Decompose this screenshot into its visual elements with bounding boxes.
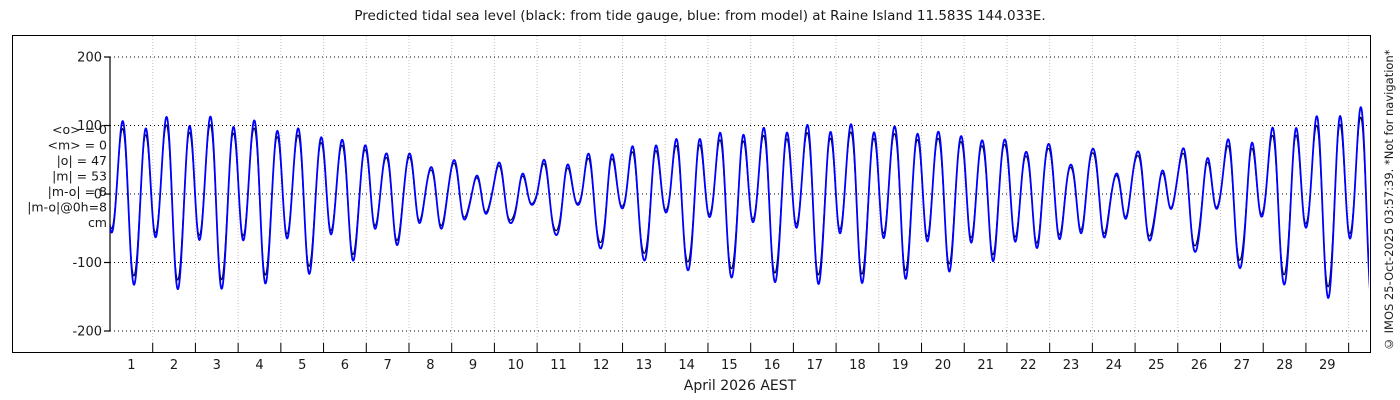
x-tick-label: 18: [849, 358, 866, 373]
data-series-group: [110, 107, 1370, 298]
series-observed: [110, 117, 1370, 287]
x-tick-label: 27: [1234, 358, 1251, 373]
statistics-line: |m| = 53: [52, 168, 107, 183]
copyright-notice: © IMOS 25-Oct-2025 03:57:39. *Not for na…: [1379, 0, 1399, 400]
x-tick-label: 4: [255, 358, 263, 373]
series-model: [110, 107, 1370, 298]
x-tick-label: 13: [636, 358, 653, 373]
statistics-line: |m-o| = 8: [48, 184, 107, 199]
tidal-plot: 2001000-100-2001234567891011121314151617…: [0, 0, 1400, 400]
statistics-line: <o> = 0: [52, 122, 107, 137]
x-tick-label: 23: [1063, 358, 1080, 373]
chart-root: Predicted tidal sea level (black: from t…: [0, 0, 1400, 400]
x-tick-label: 6: [341, 358, 349, 373]
x-axis-label: April 2026 AEST: [684, 378, 797, 394]
x-tick-label: 19: [892, 358, 909, 373]
x-tick-label: 15: [721, 358, 738, 373]
x-tick-label: 8: [426, 358, 434, 373]
x-tick-label: 7: [383, 358, 391, 373]
x-tick-label: 29: [1319, 358, 1336, 373]
x-tick-label: 25: [1148, 358, 1165, 373]
x-tick-label: 28: [1276, 358, 1293, 373]
statistics-block: <o> = 0<m> = 0|o| = 47|m| = 53|m-o| = 8|…: [27, 122, 107, 230]
x-tick-label: 20: [935, 358, 952, 373]
y-tick-label: -100: [72, 256, 102, 271]
x-tick-label: 1: [127, 358, 135, 373]
x-tick-label: 16: [764, 358, 781, 373]
x-tick-label: 14: [678, 358, 695, 373]
x-tick-label: 10: [507, 358, 524, 373]
statistics-line: |m-o|@0h=8: [27, 199, 107, 214]
statistics-line: |o| = 47: [57, 153, 107, 168]
x-tick-label: 21: [977, 358, 994, 373]
statistics-line: <m> = 0: [48, 137, 108, 152]
x-tick-label: 24: [1105, 358, 1122, 373]
x-tick-label: 5: [298, 358, 306, 373]
x-tick-label: 26: [1191, 358, 1208, 373]
x-tick-label: 9: [469, 358, 477, 373]
x-tick-label: 17: [806, 358, 823, 373]
x-tick-label: 3: [213, 358, 221, 373]
x-tick-label: 2: [170, 358, 178, 373]
x-tick-label: 12: [593, 358, 610, 373]
x-tick-label: 22: [1020, 358, 1037, 373]
y-tick-label: -200: [72, 325, 102, 340]
horizontal-gridlines: [110, 57, 1369, 331]
x-axis-ticks: 1234567891011121314151617181920212223242…: [127, 343, 1348, 373]
statistics-line: cm: [88, 215, 107, 230]
x-tick-label: 11: [550, 358, 567, 373]
y-tick-label: 200: [77, 51, 102, 66]
